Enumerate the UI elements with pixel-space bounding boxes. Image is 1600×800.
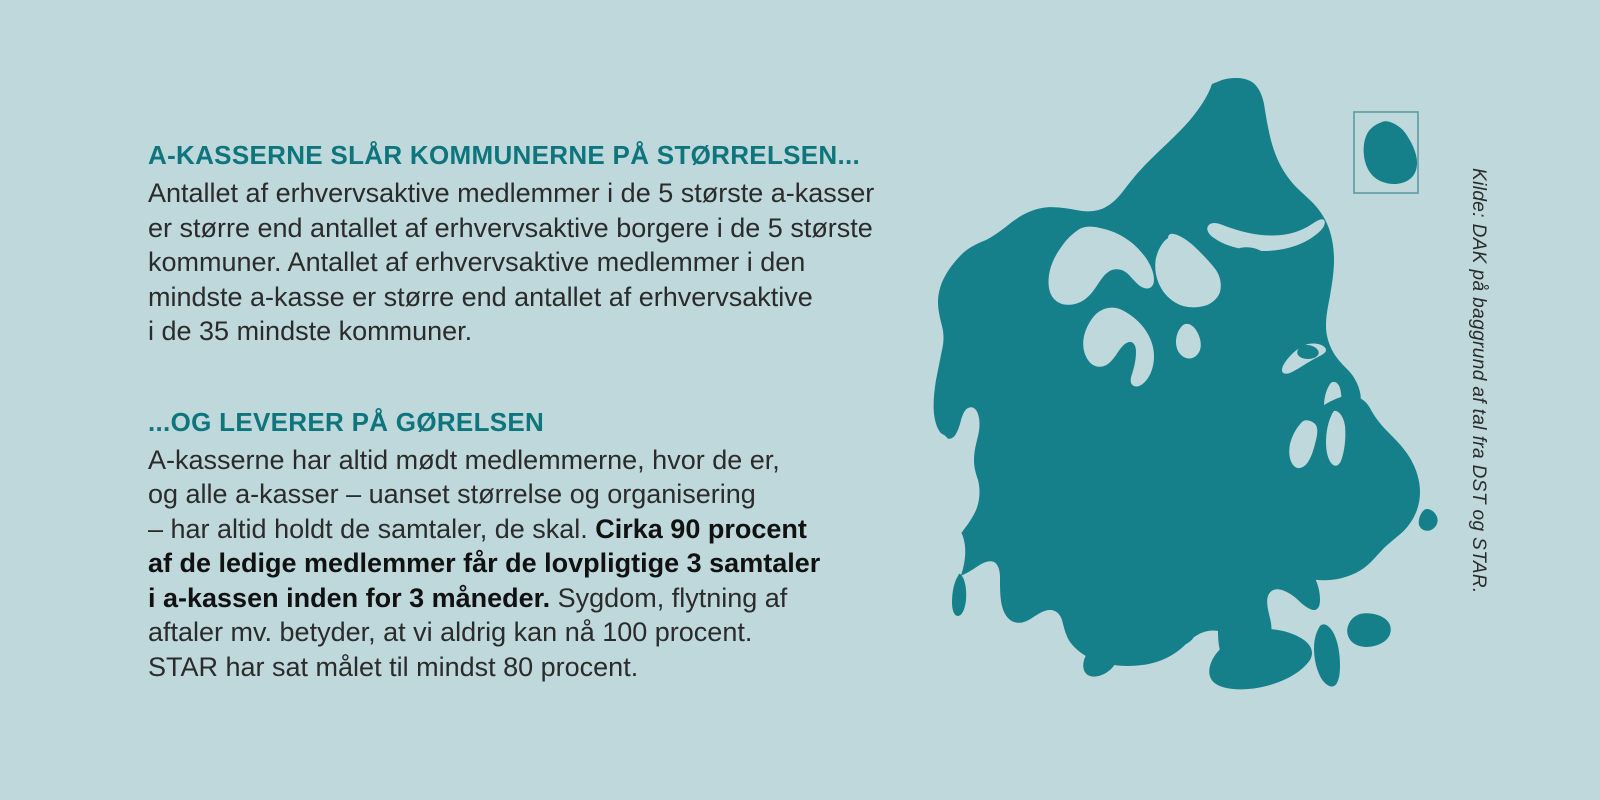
moen-island xyxy=(1347,613,1391,647)
infographic-poster: A-KASSERNE SLÅR KOMMUNERNE PÅ STØRRELSEN… xyxy=(0,0,1600,800)
text-column: A-KASSERNE SLÅR KOMMUNERNE PÅ STØRRELSEN… xyxy=(148,138,908,684)
body-line: er større end antallet af erhvervsaktive… xyxy=(148,211,908,246)
body-line: mindste a-kasse er større end antallet a… xyxy=(148,280,908,315)
body-line: A-kasserne har altid mødt medlemmerne, h… xyxy=(148,443,908,478)
body-line: kommuner. Antallet af erhvervsaktive med… xyxy=(148,245,908,280)
heading-1: A-KASSERNE SLÅR KOMMUNERNE PÅ STØRRELSEN… xyxy=(148,138,908,172)
body-line: Antallet af erhvervsaktive medlemmer i d… xyxy=(148,176,908,211)
amager-island xyxy=(1419,509,1438,531)
body-line: STAR har sat målet til mindst 80 procent… xyxy=(148,650,908,685)
body-text-run: – har altid holdt de samtaler, de skal. xyxy=(148,514,595,544)
body-text-run: Sygdom, flytning af xyxy=(550,583,787,613)
falster-island xyxy=(1314,624,1340,686)
heading-2: ...OG LEVERER PÅ GØRELSEN xyxy=(148,405,908,439)
body-bold-line: af de ledige medlemmer får de lovpligtig… xyxy=(148,546,908,581)
denmark-map-svg xyxy=(890,78,1490,708)
text-block-2: ...OG LEVERER PÅ GØRELSEN A-kasserne har… xyxy=(148,405,908,685)
body-paragraph-1: Antallet af erhvervsaktive medlemmer i d… xyxy=(148,176,908,349)
body-bold-run: i a-kassen inden for 3 måneder. xyxy=(148,583,550,613)
denmark-map xyxy=(890,78,1490,708)
source-note: Kilde: DAK på baggrund af tal fra DST og… xyxy=(1467,168,1489,608)
bornholm-island xyxy=(1364,121,1417,184)
body-line-mixed: i a-kassen inden for 3 måneder. Sygdom, … xyxy=(148,581,908,616)
body-bold-run: Cirka 90 procent xyxy=(595,514,807,544)
body-line-mixed: – har altid holdt de samtaler, de skal. … xyxy=(148,512,908,547)
body-line: i de 35 mindste kommuner. xyxy=(148,314,908,349)
body-paragraph-2: A-kasserne har altid mødt medlemmerne, h… xyxy=(148,443,908,685)
body-line: og alle a-kasser – uanset størrelse og o… xyxy=(148,477,908,512)
west-coast-lagoon xyxy=(928,433,952,492)
text-block-1: A-KASSERNE SLÅR KOMMUNERNE PÅ STØRRELSEN… xyxy=(148,138,908,349)
body-line: aftaler mv. betyder, at vi aldrig kan nå… xyxy=(148,615,908,650)
